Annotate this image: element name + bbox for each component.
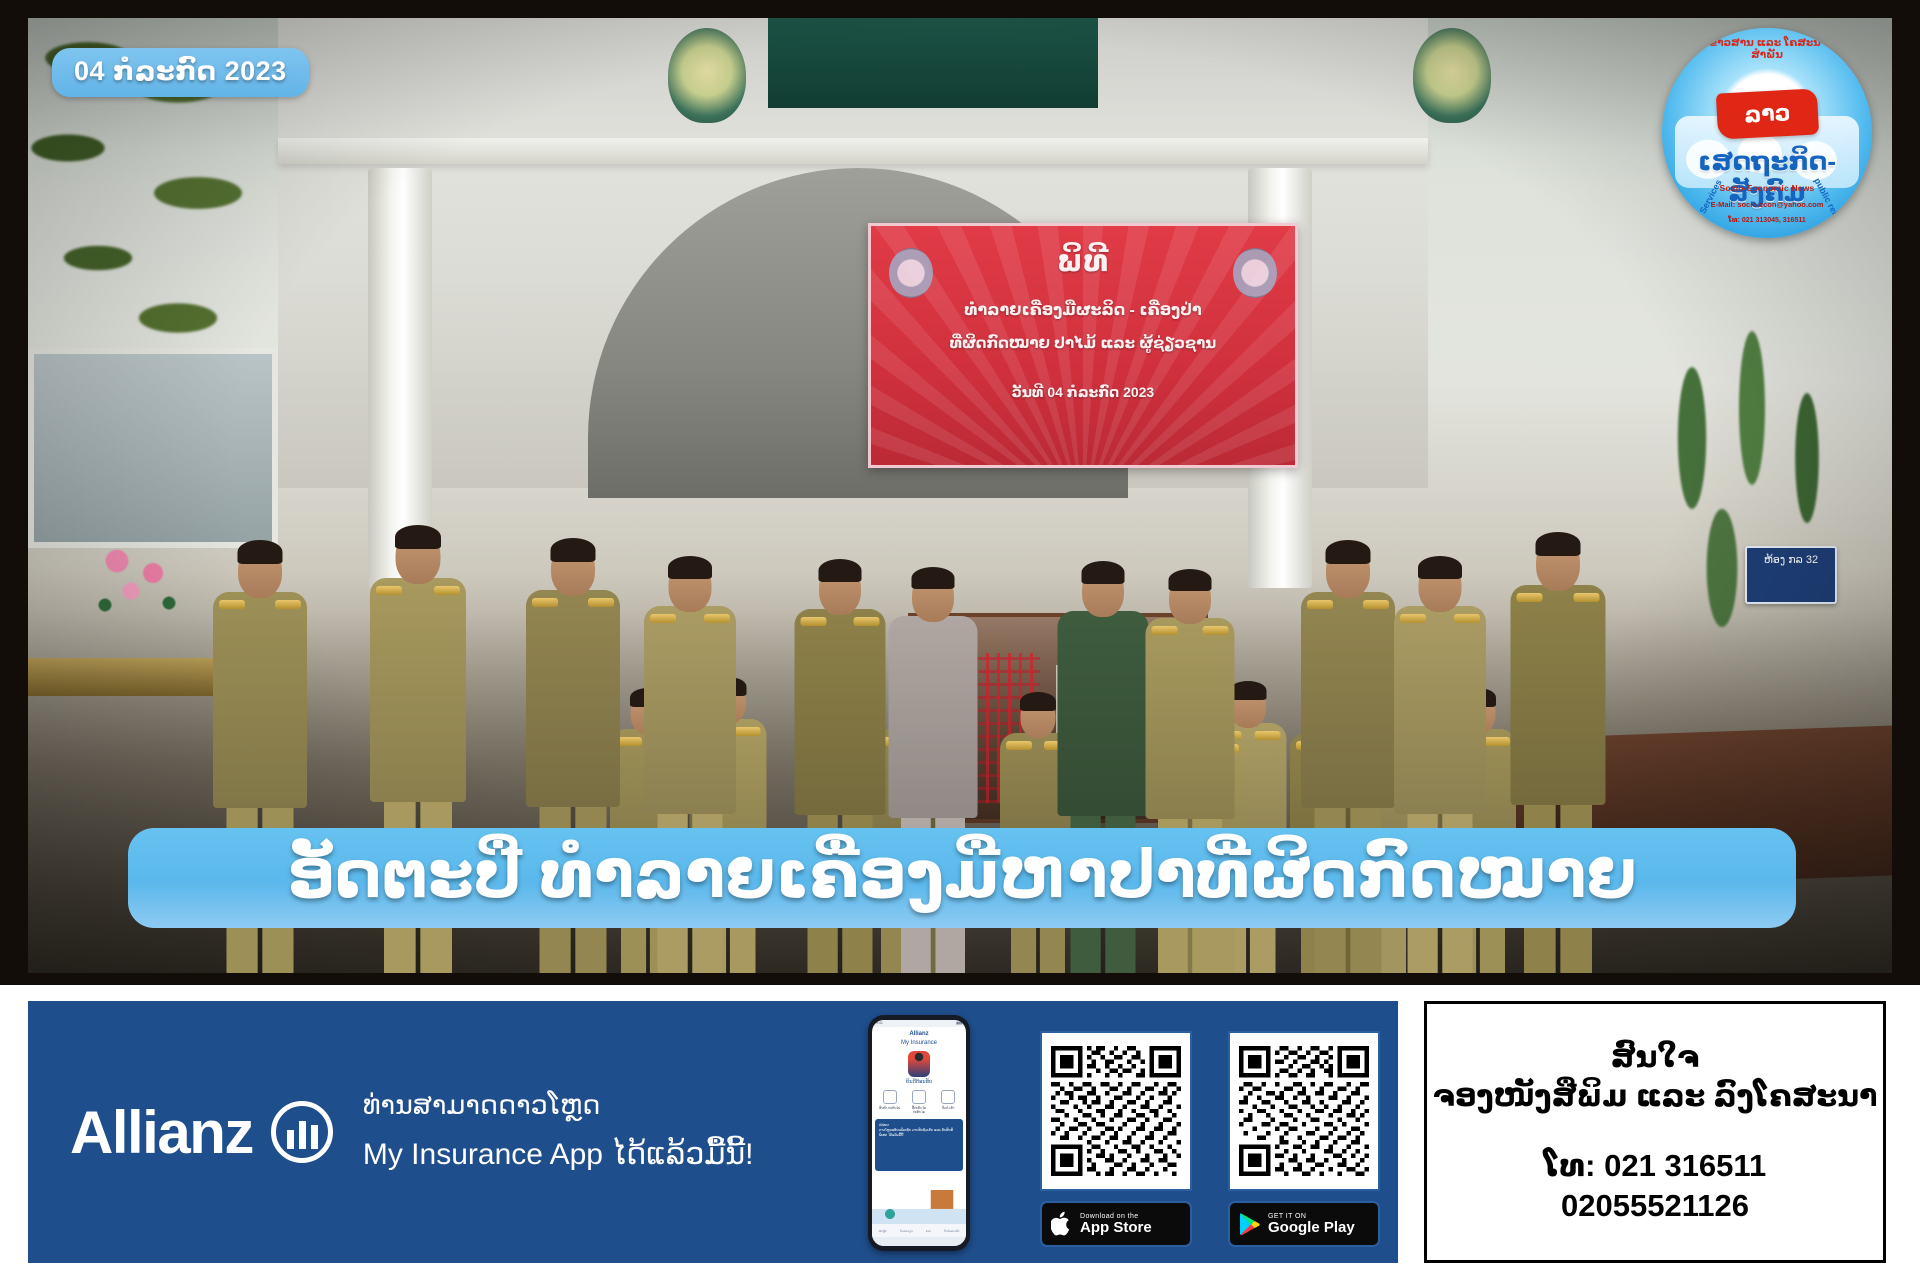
nav-item[interactable]: ໜ້າຫຼັກ <box>878 1229 887 1233</box>
app-quick-tiles: ສິນຄ້າ ປະກັນໄພ ຊື້ປະກັນໄພ ປະກັນໄພ ຕິດຕໍ່… <box>875 1090 963 1114</box>
app-tile[interactable]: ຕິດຕໍ່ ເຮົາ <box>937 1090 959 1114</box>
contact-phone-secondary[interactable]: 02055521126 <box>1561 1188 1749 1224</box>
figure-torso <box>1058 611 1149 816</box>
badge-big-text: Google Play <box>1268 1220 1355 1236</box>
photo-container: ຫ້ອງ ກລ 32 ພິທີ ທຳລາຍເຄື່ອງມືຜະລິດ - ເຄື… <box>0 0 1920 985</box>
logo-arc-top-text: ບໍລິການ ຂ່າວສານ ແລະ ໂຄສະນາ - ປະຊາສຳພັນ <box>1662 38 1872 61</box>
status-time: 9:41 <box>876 1021 883 1026</box>
google-play-badge-text: GET IT ON Google Play <box>1268 1213 1355 1236</box>
google-play-badge[interactable]: GET IT ON Google Play <box>1228 1201 1380 1247</box>
figure-hair <box>238 540 283 564</box>
contact-subheading: ຈອງໜັງສືພິມ ແລະ ລົງໂຄສະນາ <box>1433 1079 1878 1114</box>
badge-big-text: App Store <box>1080 1220 1152 1236</box>
tile-label: ຊື້ປະກັນໄພ ປະກັນໄພ <box>912 1106 926 1114</box>
nav-item[interactable]: ຕິດຕໍ່ພວກເຮົາ <box>944 1229 960 1233</box>
status-icons: ▮▮▮ <box>956 1021 962 1026</box>
app-tile[interactable]: ຊື້ປະກັນໄພ ປະກັນໄພ <box>908 1090 930 1114</box>
rank-epaulette-icon <box>434 586 460 595</box>
app-greeting: ຍິນດີຕ້ອນຮັບ <box>872 1079 966 1085</box>
rank-epaulette-icon <box>532 598 558 607</box>
app-title: My Insurance <box>872 1037 966 1046</box>
rank-epaulette-icon <box>1307 600 1333 609</box>
rank-epaulette-icon <box>219 600 245 609</box>
rank-epaulette-icon <box>1454 614 1480 623</box>
logo-red-word: ລາວ <box>1715 88 1818 139</box>
app-brand: Allianz <box>872 1027 966 1037</box>
figure-torso <box>526 590 620 807</box>
app-store-badge[interactable]: Download on the App Store <box>1040 1201 1192 1247</box>
figure-hair <box>1326 540 1371 564</box>
allianz-advertisement[interactable]: Allianz ທ່ານສາມາດດາວໂຫຼດ My Insurance Ap… <box>28 1001 1398 1263</box>
tile-icon <box>912 1090 926 1104</box>
google-play-column: GET IT ON Google Play <box>1228 1031 1380 1247</box>
rank-epaulette-icon <box>588 598 614 607</box>
rank-epaulette-icon <box>704 614 730 623</box>
phone-home-bar <box>872 1237 966 1246</box>
figure-hair <box>912 567 955 589</box>
contact-heading: ສົນໃຈ <box>1611 1040 1699 1075</box>
allianz-wordmark: Allianz <box>70 1098 253 1167</box>
figure-hair <box>1418 556 1462 579</box>
figure-torso <box>213 592 307 808</box>
app-promo-card[interactable]: Allianz ດາວໂຫຼດແອັບພລິເຄຊັນ ມາຍອິນຊົວເຣັ… <box>875 1119 963 1171</box>
figure-hair <box>1169 569 1212 591</box>
figure-torso <box>889 616 978 818</box>
rank-epaulette-icon <box>275 600 301 609</box>
tile-icon <box>941 1090 955 1104</box>
tile-label: ຕິດຕໍ່ ເຮົາ <box>942 1106 954 1110</box>
figure-torso <box>1511 585 1606 805</box>
rank-epaulette-icon <box>1152 626 1178 635</box>
qr-svg <box>1051 1042 1181 1180</box>
tile-label: ສິນຄ້າ ປະກັນໄພ <box>879 1106 900 1110</box>
tile-icon <box>883 1090 897 1104</box>
allianz-bars-icon <box>271 1101 333 1163</box>
nav-item[interactable]: ກົມທະນຽນ <box>900 1229 913 1233</box>
figure-torso <box>370 578 466 802</box>
figure-torso <box>795 609 886 815</box>
phone-mockup: 9:41 ▮▮▮ Allianz My Insurance ຍິນດີຕ້ອນຮ… <box>868 1015 970 1251</box>
promo-text: ດາວໂຫຼດແອັບພລິເຄຊັນ ມາຍອິນຊົວເຣັນ ແລະ ຮັ… <box>879 1128 959 1138</box>
app-store-qr-code[interactable] <box>1040 1031 1192 1191</box>
app-store-column: Download on the App Store <box>1040 1031 1192 1247</box>
apple-icon <box>1051 1211 1073 1237</box>
contact-phone-primary[interactable]: ໂທ: 021 316511 <box>1544 1148 1766 1184</box>
date-badge: 04 ກໍລະກົດ 2023 <box>52 48 309 97</box>
ad-line-2: My Insurance App ໄດ້ແລ້ວມື້ນີ້! <box>363 1129 754 1182</box>
rank-epaulette-icon <box>1255 731 1281 740</box>
app-avatar-illustration <box>908 1051 930 1077</box>
figure-torso <box>1146 618 1235 819</box>
logo-main-text: ເສດຖະກິດ-ສັງຄົມ <box>1662 146 1872 208</box>
news-card: ຫ້ອງ ກລ 32 ພິທີ ທຳລາຍເຄື່ອງມືຜະລິດ - ເຄື… <box>0 0 1920 1280</box>
app-store-badge-text: Download on the App Store <box>1080 1213 1152 1236</box>
figure-torso <box>1394 606 1486 814</box>
phone-screen: 9:41 ▮▮▮ Allianz My Insurance ຍິນດີຕ້ອນຮ… <box>872 1020 966 1246</box>
app-tile[interactable]: ສິນຄ້າ ປະກັນໄພ <box>879 1090 901 1114</box>
figure-hair <box>551 538 596 562</box>
allianz-logo: Allianz <box>70 1098 333 1167</box>
app-bottom-nav[interactable]: ໜ້າຫຼັກ ກົມທະນຽນ ຂ່າວ ຕິດຕໍ່ພວກເຮົາ <box>872 1224 966 1237</box>
bottom-strip: Allianz ທ່ານສາມາດດາວໂຫຼດ My Insurance Ap… <box>0 985 1920 1280</box>
rank-epaulette-icon <box>1006 741 1032 750</box>
google-play-icon <box>1239 1212 1261 1236</box>
figure-hair <box>668 556 712 579</box>
figure-torso <box>1301 592 1395 808</box>
contact-box: ສົນໃຈ ຈອງໜັງສືພິມ ແລະ ລົງໂຄສະນາ ໂທ: 021 … <box>1424 1001 1886 1263</box>
qr-svg <box>1239 1042 1369 1180</box>
green-signboard <box>768 18 1098 108</box>
rank-epaulette-icon <box>1400 614 1426 623</box>
rank-epaulette-icon <box>1574 593 1600 602</box>
google-play-qr-code[interactable] <box>1228 1031 1380 1191</box>
allianz-ad-copy: ທ່ານສາມາດດາວໂຫຼດ My Insurance App ໄດ້ແລ້… <box>363 1082 754 1182</box>
figure-hair <box>395 525 441 549</box>
rank-epaulette-icon <box>1517 593 1543 602</box>
rank-epaulette-icon <box>650 614 676 623</box>
logo-subtitle: Socio-Economic News <box>1662 183 1872 193</box>
figure-hair <box>1082 561 1125 584</box>
app-illustration <box>872 1190 966 1224</box>
figure-hair <box>1536 532 1581 556</box>
logo-email: E-Mail: socio.ccon@yahoo.com <box>1662 200 1872 209</box>
rank-epaulette-icon <box>801 617 827 626</box>
building-cornice <box>278 138 1428 164</box>
ad-line-1: ທ່ານສາມາດດາວໂຫຼດ <box>363 1082 754 1129</box>
figure-torso <box>644 606 736 814</box>
rank-epaulette-icon <box>376 586 402 595</box>
national-crest-icon <box>668 28 746 123</box>
phone-status-bar: 9:41 ▮▮▮ <box>872 1020 966 1027</box>
rank-epaulette-icon <box>854 617 880 626</box>
banner-line-1: ພິທີ <box>871 244 1295 279</box>
publication-logo: ບໍລິການ ຂ່າວສານ ແລະ ໂຄສະນາ - ປະຊາສຳພັນ ລ… <box>1662 28 1872 238</box>
headline-banner: ອັດຕະປື ທຳລາຍເຄື່ອງມືຫາປາທີ່ຜິດກົດໝາຍ <box>128 828 1796 928</box>
nav-item[interactable]: ຂ່າວ <box>926 1229 931 1233</box>
figure-hair <box>819 559 862 582</box>
rank-epaulette-icon <box>1203 626 1229 635</box>
national-crest-icon <box>1413 28 1491 123</box>
